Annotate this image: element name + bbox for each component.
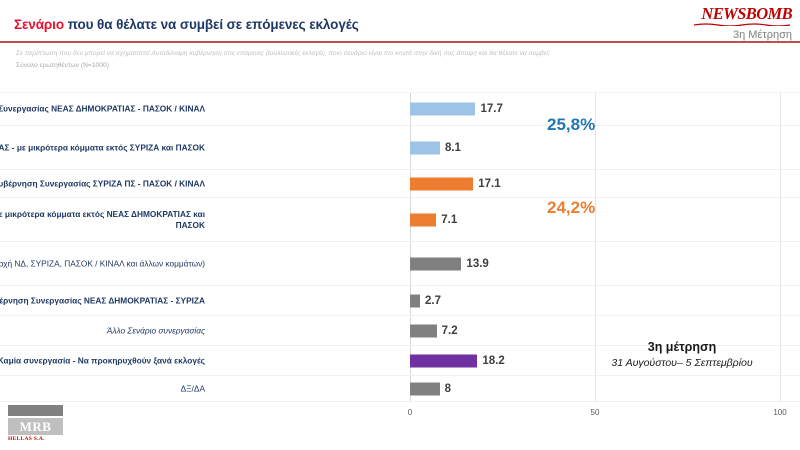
bar-value-label: 18.2	[482, 355, 504, 367]
x-axis-tick: 50	[591, 408, 600, 417]
bar	[410, 382, 440, 395]
mrb-logo-sub: HELLAS S.A.	[8, 436, 70, 442]
brand-block: NEWSBOMB 3η Μέτρηση	[701, 6, 792, 41]
table-row: Κυβέρνηση Συνεργασίας ΣΥΡΙΖΑ ΠΣ - ΠΑΣΟΚ …	[0, 170, 800, 198]
callout-nd-total: 25,8%	[547, 115, 595, 135]
bar	[410, 324, 437, 337]
question-caption: Σε περίπτωση που δεν μπορεί να σχηματιστ…	[16, 48, 716, 72]
x-axis-tick: 0	[408, 408, 412, 417]
bar-category-label: ΔΞ/ΔΑ	[0, 383, 205, 394]
mrb-logo: MRB HELLAS S.A.	[8, 405, 70, 442]
measurement-dates: 31 Αυγούστου– 5 Σεπτεμβρίου	[592, 357, 772, 369]
measurement-footnote: 3η μέτρηση 31 Αυγούστου– 5 Σεπτεμβρίου	[592, 340, 772, 369]
mrb-logo-text: MRB	[20, 419, 52, 435]
newsbomb-logo: NEWSBOMB	[701, 6, 792, 23]
table-row: ΔΞ/ΔΑ8	[0, 376, 800, 402]
bar-track: 8	[410, 376, 800, 401]
bar	[410, 294, 420, 307]
x-axis: 050100	[410, 408, 780, 428]
bar-track: 13.9	[410, 242, 800, 285]
bar-category-label: Καμία συνεργασία - Να προκηρυχθούν ξανά …	[0, 355, 205, 366]
bar-value-label: 13.9	[466, 258, 488, 270]
measurement-title: 3η μέτρηση	[592, 340, 772, 354]
bar-track: 17.7	[410, 93, 800, 125]
x-axis-tick: 100	[773, 408, 786, 417]
bar	[410, 103, 475, 116]
bar-category-label: Κυβέρνηση Συνεργασίας ΝΕΑΣ ΔΗΜΟΚΡΑΤΙΑΣ -…	[0, 142, 205, 153]
bar-category-label: Κυβέρνηση Συνεργασίας ΣΥΡΙΖΑ ΠΣ - ΠΑΣΟΚ …	[0, 178, 205, 189]
bar-value-label: 8.1	[445, 142, 461, 154]
bar	[410, 354, 477, 367]
bar-category-label: Κυβέρνηση Συνεργασίας ΝΕΑΣ ΔΗΜΟΚΡΑΤΙΑΣ -…	[0, 103, 205, 114]
caption-line-1: Σε περίπτωση που δεν μπορεί να σχηματιστ…	[16, 48, 716, 60]
header-divider	[0, 41, 800, 43]
bar-value-label: 17.1	[478, 178, 500, 190]
callout-syriza-total: 24,2%	[547, 198, 595, 218]
newsbomb-logo-text: NEWSBOMB	[701, 4, 792, 23]
bar-value-label: 7.2	[442, 325, 458, 337]
bar	[410, 141, 440, 154]
brand-underline-icon	[694, 23, 790, 26]
page-title-accent: Σενάριο	[14, 17, 64, 32]
page-title: Σενάριο που θα θέλατε να συμβεί σε επόμε…	[14, 17, 359, 32]
bar-category-label: Κυβέρνηση Συνεργασίας ΝΕΑΣ ΔΗΜΟΚΡΑΤΙΑΣ -…	[0, 295, 205, 306]
caption-line-2: Σύνολο ερωτηθέντων (Ν=1000)	[16, 60, 716, 72]
table-row: Κυβέρνηση Συνεργασίας ΝΕΑΣ ΔΗΜΟΚΡΑΤΙΑΣ -…	[0, 92, 800, 126]
table-row: Κυβέρνηση Συνεργασίας ΣΥΡΙΖΑ ΠΣ - με μικ…	[0, 198, 800, 242]
bar-track: 7.1	[410, 198, 800, 241]
bar-track: 2.7	[410, 286, 800, 315]
page-header: Σενάριο που θα θέλατε να συμβεί σε επόμε…	[0, 0, 800, 42]
bar-category-label: Κυβέρνηση Συνεργασίας ΣΥΡΙΖΑ ΠΣ - με μικ…	[0, 208, 205, 230]
table-row: Οικουμενική κυβέρνηση (Με Συμμετοχή ΝΔ, …	[0, 242, 800, 286]
table-row: Κυβέρνηση Συνεργασίας ΝΕΑΣ ΔΗΜΟΚΡΑΤΙΑΣ -…	[0, 286, 800, 316]
bar-value-label: 8	[445, 383, 451, 395]
table-row: Κυβέρνηση Συνεργασίας ΝΕΑΣ ΔΗΜΟΚΡΑΤΙΑΣ -…	[0, 126, 800, 170]
bar-category-label: Άλλο Σενάριο συνεργασίας	[0, 325, 205, 336]
bar	[410, 177, 473, 190]
bar-value-label: 7.1	[441, 214, 457, 226]
bar	[410, 257, 461, 270]
bar-value-label: 17.7	[480, 103, 502, 115]
bar	[410, 213, 436, 226]
bar-value-label: 2.7	[425, 295, 441, 307]
page-title-rest: που θα θέλατε να συμβεί σε επόμενες εκλο…	[64, 17, 359, 32]
bar-track: 8.1	[410, 126, 800, 169]
mrb-logo-bar	[8, 405, 63, 416]
mrb-logo-box: MRB	[8, 418, 63, 435]
bar-track: 17.1	[410, 170, 800, 197]
brand-subtitle: 3η Μέτρηση	[701, 29, 792, 41]
bar-category-label: Οικουμενική κυβέρνηση (Με Συμμετοχή ΝΔ, …	[0, 258, 205, 269]
